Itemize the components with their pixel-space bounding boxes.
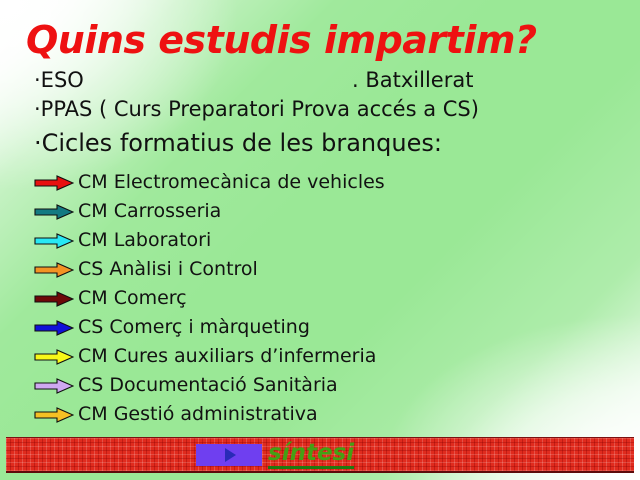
right-arrow-icon <box>34 349 74 365</box>
list-item-label: CM Gestió administrativa <box>78 405 318 424</box>
list-item: CS Anàlisi i Control <box>0 255 640 284</box>
list-item-label: CS Anàlisi i Control <box>78 260 258 279</box>
list-item-label: CS Documentació Sanitària <box>78 376 338 395</box>
list-item: CM Carrosseria <box>0 197 640 226</box>
list-item-label: CM Laboratori <box>78 231 211 250</box>
list-item-label: CS Comerç i màrqueting <box>78 318 310 337</box>
bullet-item-batxillerat: . Batxillerat <box>352 70 473 91</box>
list-item: CM Electromecànica de vehicles <box>0 168 640 197</box>
list-item: CM Comerç <box>0 284 640 313</box>
list-item: CM Gestió administrativa <box>0 400 640 429</box>
sintesi-link[interactable]: síntesi <box>268 441 354 469</box>
right-arrow-icon <box>34 233 74 249</box>
list-item: CS Documentació Sanitària <box>0 371 640 400</box>
page-title: Quins estudis impartim? <box>26 21 537 59</box>
list-item-label: CM Cures auxiliars d’infermeria <box>78 347 376 366</box>
list-item: CM Cures auxiliars d’infermeria <box>0 342 640 371</box>
play-button[interactable] <box>196 444 262 466</box>
right-arrow-icon <box>34 204 74 220</box>
slide-canvas: Quins estudis impartim? ·ESO . Batxiller… <box>0 0 640 480</box>
right-arrow-icon <box>34 407 74 423</box>
right-arrow-icon <box>34 291 74 307</box>
right-arrow-icon <box>34 320 74 336</box>
list-item: CM Laboratori <box>0 226 640 255</box>
bullet-item-ppas: ·PPAS ( Curs Preparatori Prova accés a C… <box>34 99 479 120</box>
right-arrow-icon <box>34 378 74 394</box>
play-icon <box>225 448 236 462</box>
list-item-label: CM Comerç <box>78 289 187 308</box>
list-item-label: CM Carrosseria <box>78 202 221 221</box>
right-arrow-icon <box>34 262 74 278</box>
right-arrow-icon <box>34 175 74 191</box>
list-item-label: CM Electromecànica de vehicles <box>78 173 385 192</box>
course-list: CM Electromecànica de vehiclesCM Carross… <box>0 168 640 429</box>
bullet-item-cicles-formatius: ·Cicles formatius de les branques: <box>34 131 442 155</box>
bullet-item-eso: ·ESO <box>34 70 84 91</box>
list-item: CS Comerç i màrqueting <box>0 313 640 342</box>
